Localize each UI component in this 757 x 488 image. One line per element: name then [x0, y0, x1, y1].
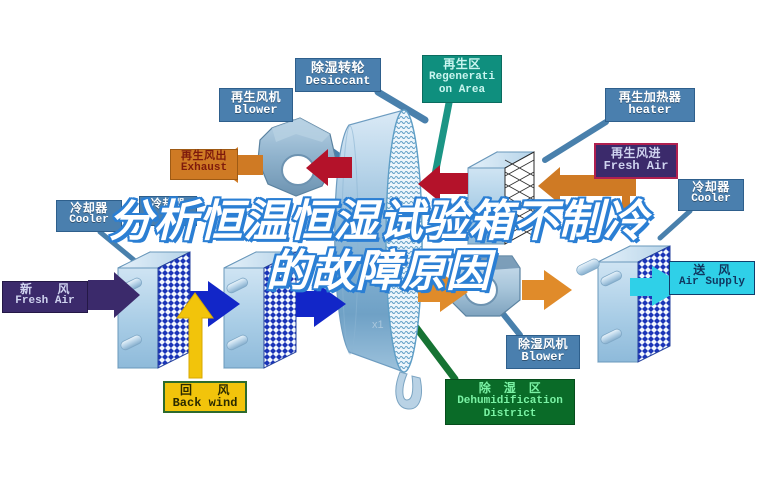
condensate-drain [396, 372, 422, 409]
label-en: Blower [507, 351, 579, 364]
label-fresh-air-regen: 再生风进 Fresh Air [594, 143, 678, 179]
label-cooler-left-2: 冷却器 [139, 196, 197, 226]
label-cooler-right: 冷却器 Cooler [678, 179, 744, 211]
svg-text:x1: x1 [372, 319, 384, 331]
label-cn: 除湿转轮 [296, 61, 380, 75]
label-dehumid-district: 除 湿 区 Dehumidification District [445, 379, 575, 425]
cooler-coil-1 [118, 252, 190, 368]
label-cn: 除 湿 区 [446, 382, 574, 395]
label-fresh-air-in: 新 风 Fresh Air [2, 281, 88, 313]
label-en: Desiccant [296, 75, 380, 88]
label-en: Blower [220, 104, 292, 117]
label-regeneration-heater: 再生加热器 heater [605, 88, 695, 122]
label-cn: 送 风 [670, 264, 754, 277]
desiccant-rotor: x1 [335, 110, 422, 372]
label-cn: 除湿风机 [507, 338, 579, 351]
cooler-coil-3 [598, 246, 670, 362]
label-cn: 再生加热器 [606, 91, 694, 104]
cooler-coil-2 [224, 252, 296, 368]
label-back-wind: 回 风 Back wind [163, 381, 247, 413]
label-regeneration-blower: 再生风机 Blower [219, 88, 293, 122]
label-cn: 冷却器 [57, 202, 121, 215]
label-cn: 冷却器 [140, 199, 196, 211]
diagram-canvas: x1 [0, 0, 757, 488]
label-en: Cooler [57, 215, 121, 227]
label-cn: 再生区 [423, 58, 501, 71]
label-dehumid-blower: 除湿风机 Blower [506, 335, 580, 369]
label-air-supply: 送 风 Air Supply [669, 261, 755, 295]
label-cn: 再生风机 [220, 91, 292, 104]
label-en: heater [606, 104, 694, 117]
label-en: Fresh Air [596, 160, 676, 173]
label-en: Back wind [165, 397, 245, 410]
label-en: Exhaust [171, 163, 237, 175]
label-cn: 新 风 [3, 283, 87, 296]
label-cn: 回 风 [165, 384, 245, 397]
label-en: Cooler [679, 194, 743, 206]
label-cn: 再生风进 [596, 147, 676, 160]
label-en: Fresh Air [3, 296, 87, 308]
regeneration-heater-coil [468, 152, 534, 244]
label-en: Air Supply [670, 277, 754, 289]
label-desiccant-wheel: 除湿转轮 Desiccant [295, 58, 381, 92]
label-regeneration-area: 再生区 Regenerati on Area [422, 55, 502, 103]
regen-hot-arrow-2 [418, 165, 468, 202]
label-cooler-left-1: 冷却器 Cooler [56, 200, 122, 232]
label-en: Dehumidification District [446, 395, 574, 420]
label-exhaust: 再生风出 Exhaust [170, 149, 238, 180]
label-en: Regenerati on Area [423, 71, 501, 96]
label-cn: 冷却器 [679, 181, 743, 194]
